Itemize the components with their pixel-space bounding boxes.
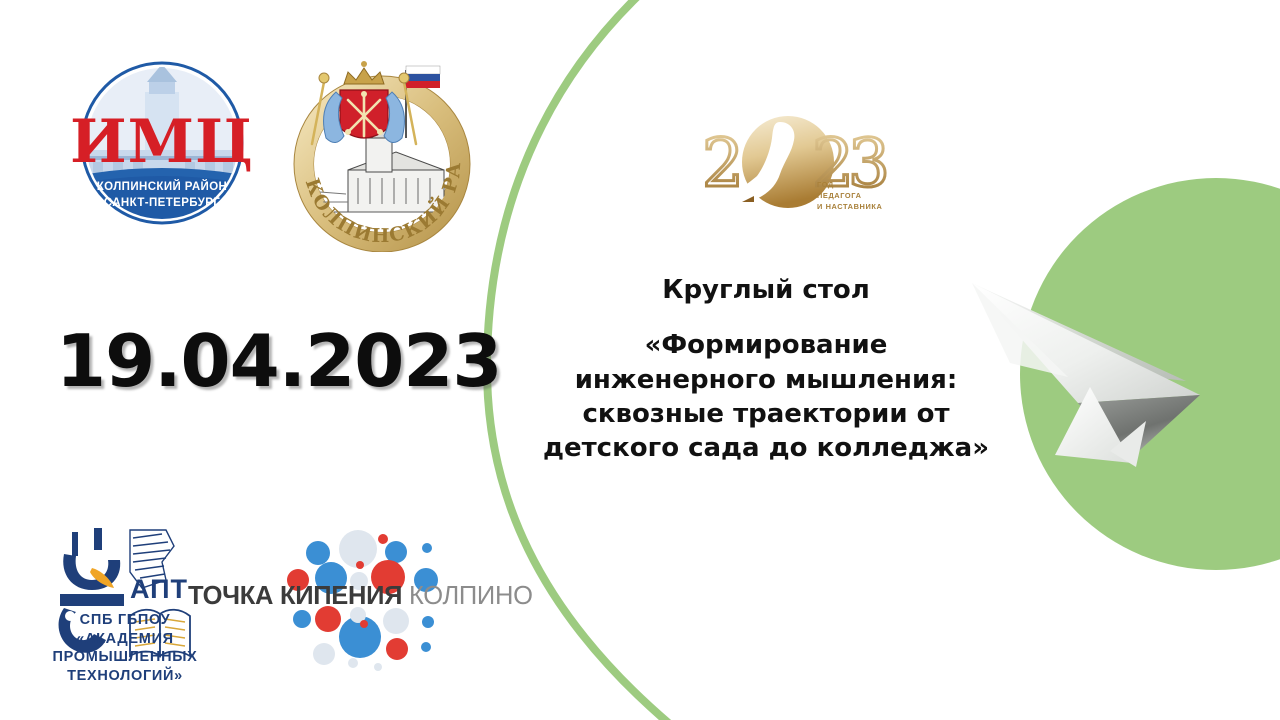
event-title-block: Круглый стол «Формирование инженерного м… [520, 275, 1012, 465]
year-of-teacher-2023-logo: 2 2 3 ГОД ПЕДАГОГА И НАСТАВНИКА [684, 108, 892, 220]
imc-logo: ИМЦ КОЛПИНСКИЙ РАЙОН САНКТ-ПЕТЕРБУРГ [57, 58, 267, 228]
svg-text:2: 2 [702, 125, 744, 202]
svg-text:ИМЦ: ИМЦ [70, 107, 254, 177]
event-title-line-1: «Формирование [520, 328, 1012, 362]
event-title-line-2: инженерного мышления: [520, 363, 1012, 397]
tochka-kipeniya-wordmark: ТОЧКА КИПЕНИЯ КОЛПИНО [188, 584, 528, 610]
event-title-line-4: детского сада до колледжа» [520, 431, 1012, 465]
event-date: 19.04.2023 [56, 325, 436, 397]
svg-text:КОЛПИНСКИЙ РАЙОН: КОЛПИНСКИЙ РАЙОН [97, 180, 228, 193]
svg-text:ГОД: ГОД [817, 180, 834, 189]
event-title-line-3: сквозные траектории от [520, 397, 1012, 431]
event-date-text: 19.04.2023 [56, 325, 436, 397]
event-title: «Формирование инженерного мышления: скво… [520, 328, 1012, 465]
event-type-label: Круглый стол [520, 275, 1012, 306]
kolpino-district-emblem: КОЛПИНСКИЙ РАЙОН [278, 52, 484, 252]
svg-text:САНКТ-ПЕТЕРБУРГ: САНКТ-ПЕТЕРБУРГ [104, 197, 220, 209]
svg-text:И НАСТАВНИКА: И НАСТАВНИКА [817, 202, 882, 211]
tochka-kipeniya-bold-text: ТОЧКА КИПЕНИЯ [188, 582, 402, 610]
svg-text:ПЕДАГОГА: ПЕДАГОГА [817, 191, 862, 200]
presentation-slide: ИМЦ КОЛПИНСКИЙ РАЙОН САНКТ-ПЕТЕРБУРГ [0, 0, 1280, 720]
svg-text:АПТ: АПТ [130, 574, 188, 604]
tochka-kipeniya-light-text: КОЛПИНО [402, 582, 532, 610]
